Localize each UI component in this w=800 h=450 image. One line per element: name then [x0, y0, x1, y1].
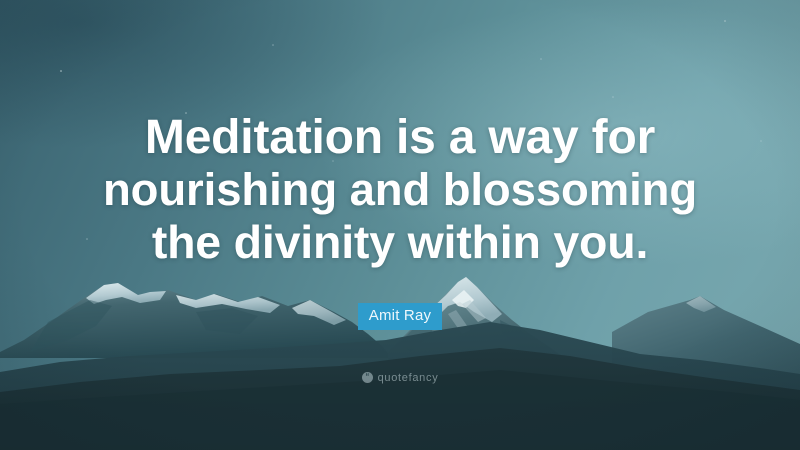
quote-line-1: Meditation is a way for [0, 112, 800, 164]
quote-line-2: nourishing and blossoming [0, 164, 800, 216]
author-name: Amit Ray [358, 303, 442, 330]
quote-text: Meditation is a way for nourishing and b… [0, 112, 800, 268]
quote-poster: Meditation is a way for nourishing and b… [0, 0, 800, 450]
quotefancy-watermark: “ quotefancy [0, 366, 800, 384]
quote-line-3: the divinity within you. [0, 216, 800, 268]
author-attribution: Amit Ray [0, 303, 800, 330]
watermark-label: quotefancy [378, 372, 439, 384]
quote-mark-badge-icon: “ [362, 372, 373, 383]
